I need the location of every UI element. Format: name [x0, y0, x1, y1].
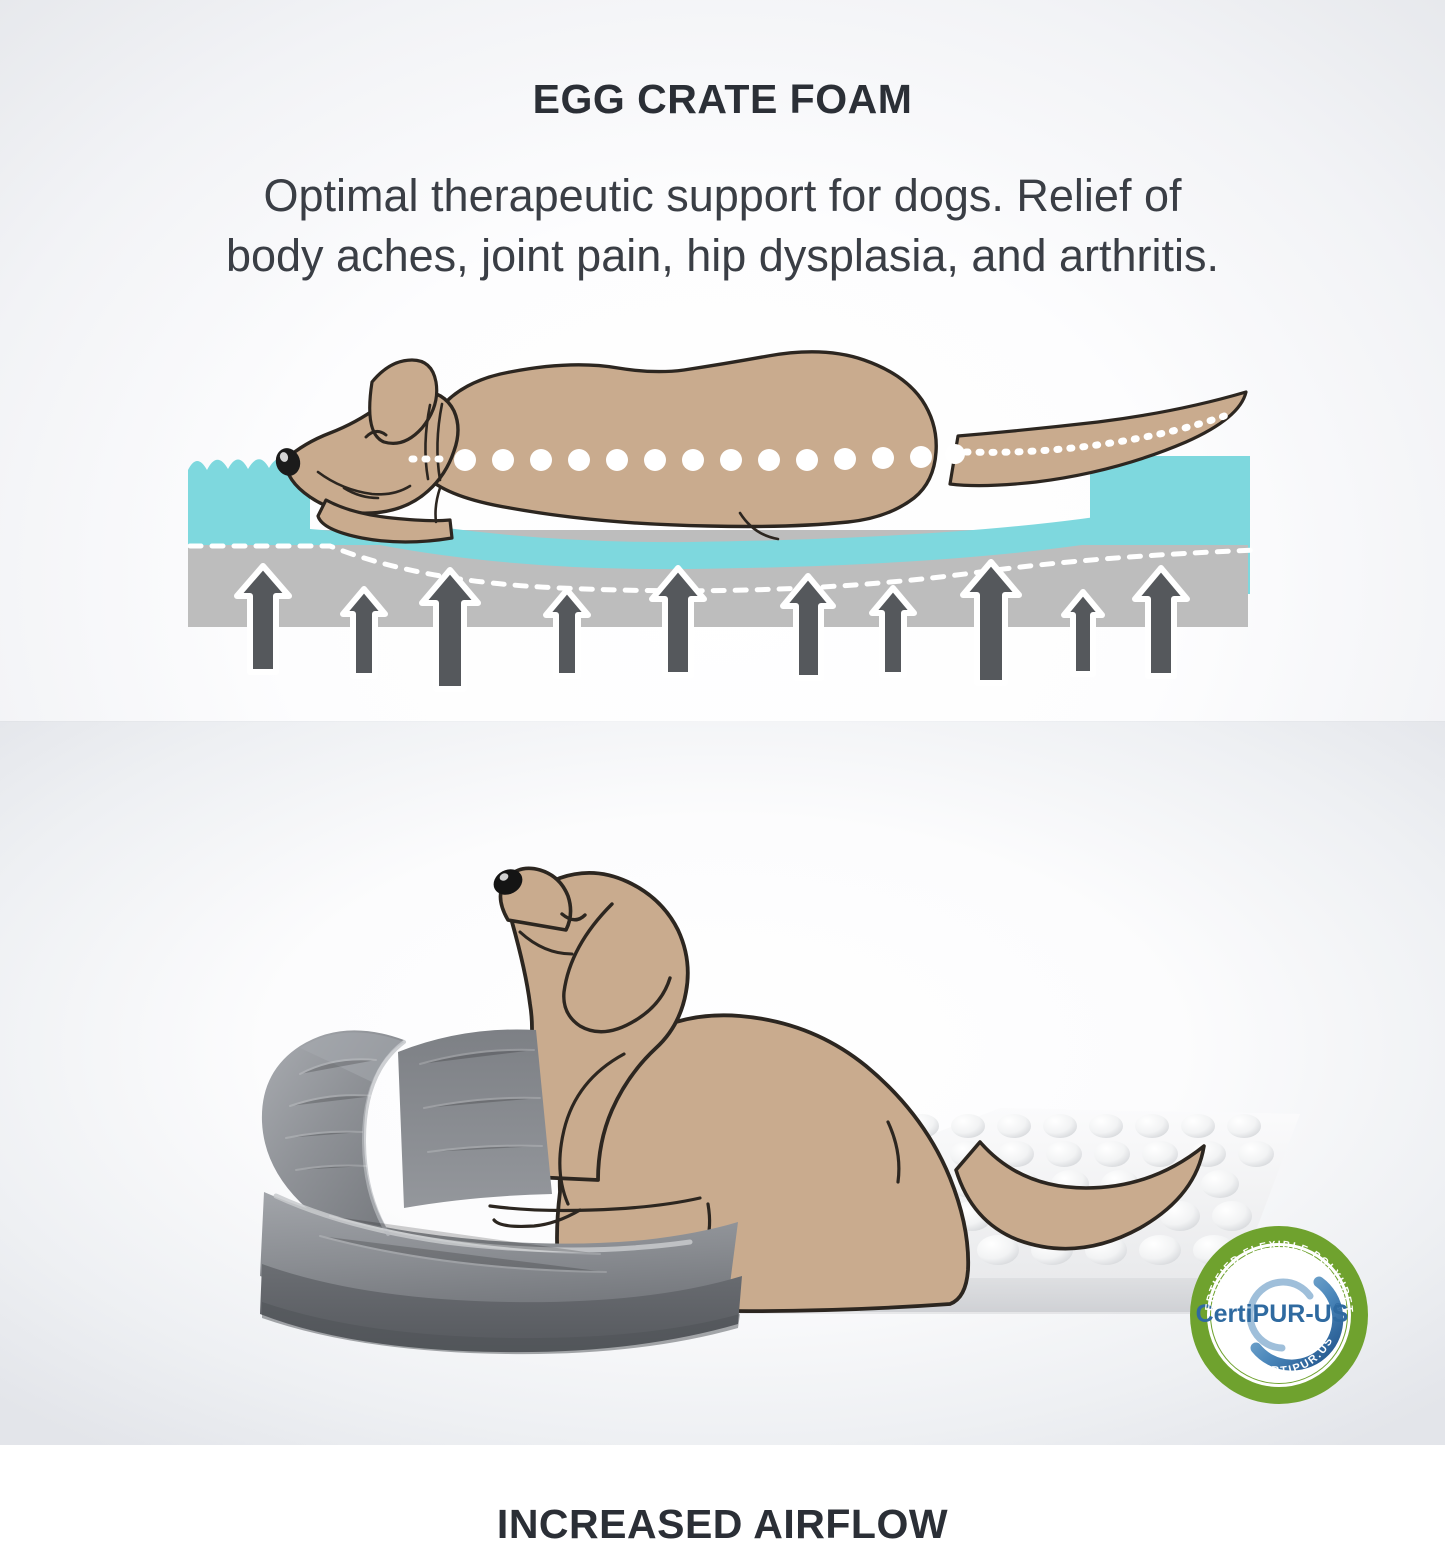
pressure-arrow — [546, 590, 588, 676]
badge-center-text: CertiPUR-US — [1196, 1300, 1349, 1328]
section-egg-crate-foam: EGG CRATE FOAM Optimal therapeutic suppo… — [0, 0, 1445, 722]
infographic-page: EGG CRATE FOAM Optimal therapeutic suppo… — [0, 0, 1445, 1445]
pressure-relief-diagram — [0, 0, 1445, 722]
pressure-arrow — [872, 588, 914, 675]
badge-registered-mark: ® — [1334, 1302, 1342, 1313]
certipur-us-badge: CertiPUR-US ® CONTAINS CERTIFIED FLEXIBL… — [1186, 1222, 1372, 1408]
pressure-arrow — [1064, 592, 1102, 674]
pressure-arrow — [343, 589, 385, 676]
page-title-increased-airflow: INCREASED AIRFLOW — [0, 1501, 1445, 1548]
